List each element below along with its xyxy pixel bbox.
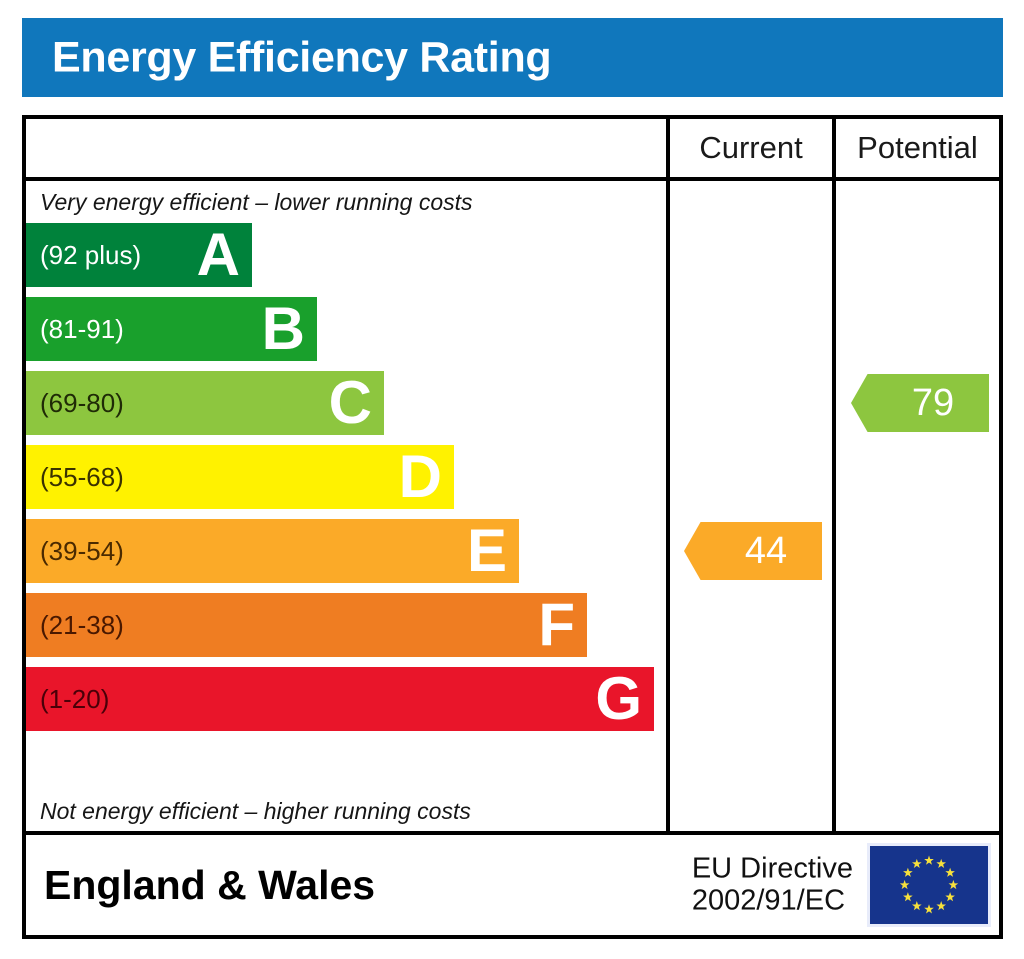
band-letter-label: E: [467, 521, 507, 581]
chart-footer: England & Wales EU Directive 2002/91/EC: [22, 835, 1003, 939]
band-g: (1-20)G: [26, 667, 654, 731]
note-efficient: Very energy efficient – lower running co…: [40, 189, 473, 216]
band-range-label: (39-54): [40, 536, 124, 567]
band-letter-label: F: [538, 595, 575, 655]
chart-header-row: Current Potential: [26, 119, 999, 181]
eu-flag-stars: [870, 846, 988, 924]
title-bar: Energy Efficiency Rating: [22, 18, 1003, 97]
band-f: (21-38)F: [26, 593, 587, 657]
rating-marker-potential: 79: [851, 374, 989, 432]
band-b: (81-91)B: [26, 297, 317, 361]
band-e: (39-54)E: [26, 519, 519, 583]
rating-chart: Current Potential Very energy efficient …: [22, 115, 1003, 835]
note-inefficient: Not energy efficient – higher running co…: [40, 798, 471, 825]
band-c: (69-80)C: [26, 371, 384, 435]
band-range-label: (55-68): [40, 462, 124, 493]
column-header-potential: Potential: [832, 119, 999, 177]
footer-region-label: England & Wales: [44, 862, 375, 909]
band-letter-label: C: [329, 373, 372, 433]
energy-efficiency-certificate: Energy Efficiency Rating Current Potenti…: [0, 0, 1024, 959]
rating-value-current: 44: [719, 530, 787, 573]
directive-line-1: EU Directive: [692, 853, 853, 885]
column-divider-current: [666, 181, 670, 831]
band-letter-label: B: [262, 299, 305, 359]
band-d: (55-68)D: [26, 445, 454, 509]
band-letter-label: A: [197, 225, 240, 285]
eu-flag-icon: [867, 843, 991, 927]
band-range-label: (81-91): [40, 314, 124, 345]
column-header-current: Current: [666, 119, 832, 177]
rating-marker-current: 44: [684, 522, 822, 580]
band-range-label: (69-80): [40, 388, 124, 419]
page-title: Energy Efficiency Rating: [52, 33, 551, 82]
band-range-label: (92 plus): [40, 240, 141, 271]
footer-directive: EU Directive 2002/91/EC: [692, 853, 853, 918]
band-range-label: (21-38): [40, 610, 124, 641]
directive-line-2: 2002/91/EC: [692, 885, 853, 917]
band-letter-label: D: [399, 447, 442, 507]
band-letter-label: G: [595, 669, 642, 729]
band-a: (92 plus)A: [26, 223, 252, 287]
rating-value-potential: 79: [886, 382, 954, 425]
bands-area: Very energy efficient – lower running co…: [26, 181, 666, 831]
column-divider-potential: [832, 181, 836, 831]
band-range-label: (1-20): [40, 684, 109, 715]
